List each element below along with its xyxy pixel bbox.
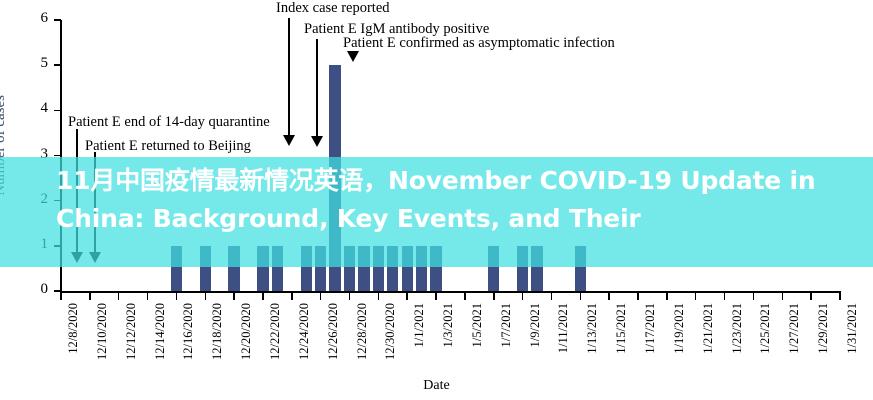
y-tick-label: 1 bbox=[6, 236, 48, 253]
y-tick-mark bbox=[54, 155, 61, 157]
x-tick-label: 1/15/2021 bbox=[614, 303, 629, 354]
x-tick-mark bbox=[839, 292, 841, 300]
annotation-quarantine-label: Patient E end of 14-day quarantine bbox=[68, 114, 270, 131]
annotation-asymptomatic-arrow-head bbox=[347, 51, 359, 62]
x-tick-mark bbox=[378, 292, 380, 300]
bar bbox=[200, 246, 211, 291]
x-tick-mark bbox=[435, 292, 437, 300]
bar bbox=[315, 246, 326, 291]
x-tick-label: 1/25/2021 bbox=[758, 303, 773, 354]
x-tick-mark bbox=[637, 292, 639, 300]
annotation-index-case-arrow-shaft bbox=[288, 18, 290, 138]
bar bbox=[402, 246, 413, 291]
x-tick-label: 1/17/2021 bbox=[643, 303, 658, 354]
x-tick-label: 1/7/2021 bbox=[499, 303, 514, 347]
y-tick-label: 5 bbox=[6, 55, 48, 72]
x-tick-label: 1/11/2021 bbox=[556, 303, 571, 353]
x-tick-label: 1/5/2021 bbox=[470, 303, 485, 347]
x-tick-label: 1/13/2021 bbox=[585, 303, 600, 354]
x-tick-mark bbox=[580, 292, 582, 300]
x-tick-label: 12/20/2020 bbox=[239, 303, 254, 360]
bar bbox=[344, 246, 355, 291]
x-tick-mark bbox=[233, 292, 235, 300]
bar bbox=[171, 246, 182, 291]
bar bbox=[387, 246, 398, 291]
bar bbox=[488, 246, 499, 291]
x-tick-mark bbox=[724, 292, 726, 300]
annotation-index-case-arrow-head bbox=[283, 135, 295, 146]
y-tick-mark bbox=[54, 19, 61, 21]
x-tick-mark bbox=[118, 292, 120, 300]
x-tick-mark bbox=[551, 292, 553, 300]
bar bbox=[257, 246, 268, 291]
x-tick-label: 12/14/2020 bbox=[153, 303, 168, 360]
x-tick-label: 12/22/2020 bbox=[268, 303, 283, 360]
bar bbox=[575, 246, 586, 291]
bar bbox=[517, 246, 528, 291]
bar bbox=[358, 246, 369, 291]
bar bbox=[301, 246, 312, 291]
bar bbox=[531, 246, 542, 291]
plot-area bbox=[61, 20, 840, 291]
x-tick-mark bbox=[493, 292, 495, 300]
y-tick-mark bbox=[54, 64, 61, 66]
y-tick-label: 0 bbox=[6, 281, 48, 298]
overlay-headline: 11月中国疫情最新情况英语，November COVID-19 Update i… bbox=[0, 162, 873, 238]
x-tick-mark bbox=[291, 292, 293, 300]
x-tick-mark bbox=[89, 292, 91, 300]
x-tick-mark bbox=[262, 292, 264, 300]
annotation-returned-label: Patient E returned to Beijing bbox=[85, 138, 251, 155]
x-tick-label: 1/21/2021 bbox=[701, 303, 716, 354]
x-tick-mark bbox=[464, 292, 466, 300]
x-tick-mark bbox=[205, 292, 207, 300]
y-tick-label: 3 bbox=[6, 146, 48, 163]
x-tick-mark bbox=[608, 292, 610, 300]
x-tick-label: 1/3/2021 bbox=[441, 303, 456, 347]
x-tick-mark bbox=[695, 292, 697, 300]
x-tick-label: 1/29/2021 bbox=[816, 303, 831, 354]
x-tick-label: 1/9/2021 bbox=[528, 303, 543, 347]
x-tick-mark bbox=[147, 292, 149, 300]
annotation-igm-arrow-head bbox=[311, 136, 323, 147]
x-tick-label: 12/10/2020 bbox=[95, 303, 110, 360]
x-tick-label: 12/18/2020 bbox=[210, 303, 225, 360]
bar bbox=[430, 246, 441, 291]
x-tick-label: 12/30/2020 bbox=[383, 303, 398, 360]
x-tick-mark bbox=[349, 292, 351, 300]
x-tick-mark bbox=[810, 292, 812, 300]
chart-screenshot: Number of cases 0123456 12/8/202012/10/2… bbox=[0, 0, 873, 400]
x-tick-label: 12/26/2020 bbox=[326, 303, 341, 360]
bar bbox=[373, 246, 384, 291]
x-tick-label: 12/12/2020 bbox=[124, 303, 139, 360]
annotation-index-case-label: Index case reported bbox=[276, 0, 390, 17]
x-tick-label: 12/16/2020 bbox=[181, 303, 196, 360]
y-tick-label: 6 bbox=[6, 10, 48, 27]
x-tick-mark bbox=[60, 292, 62, 300]
x-tick-label: 1/1/2021 bbox=[412, 303, 427, 347]
x-tick-mark bbox=[320, 292, 322, 300]
x-tick-mark bbox=[406, 292, 408, 300]
x-tick-label: 12/28/2020 bbox=[355, 303, 370, 360]
x-tick-label: 1/31/2021 bbox=[845, 303, 860, 354]
x-tick-label: 1/23/2021 bbox=[730, 303, 745, 354]
x-tick-label: 1/19/2021 bbox=[672, 303, 687, 354]
x-tick-mark bbox=[753, 292, 755, 300]
x-tick-mark bbox=[176, 292, 178, 300]
y-tick-mark bbox=[54, 245, 61, 247]
annotation-quarantine-arrow-head bbox=[71, 252, 83, 263]
x-tick-mark bbox=[522, 292, 524, 300]
x-tick-label: 1/27/2021 bbox=[787, 303, 802, 354]
x-tick-mark bbox=[782, 292, 784, 300]
x-tick-label: 12/8/2020 bbox=[66, 303, 81, 354]
x-tick-label: 12/24/2020 bbox=[297, 303, 312, 360]
bar bbox=[228, 246, 239, 291]
annotation-asymptomatic-label: Patient E confirmed as asymptomatic infe… bbox=[343, 35, 615, 52]
x-tick-mark bbox=[666, 292, 668, 300]
x-axis-title: Date bbox=[0, 378, 873, 394]
bar bbox=[416, 246, 427, 291]
y-tick-mark bbox=[54, 110, 61, 112]
y-tick-label: 4 bbox=[6, 100, 48, 117]
bar bbox=[272, 246, 283, 291]
annotation-igm-arrow-shaft bbox=[316, 39, 318, 139]
annotation-returned-arrow-head bbox=[89, 252, 101, 263]
